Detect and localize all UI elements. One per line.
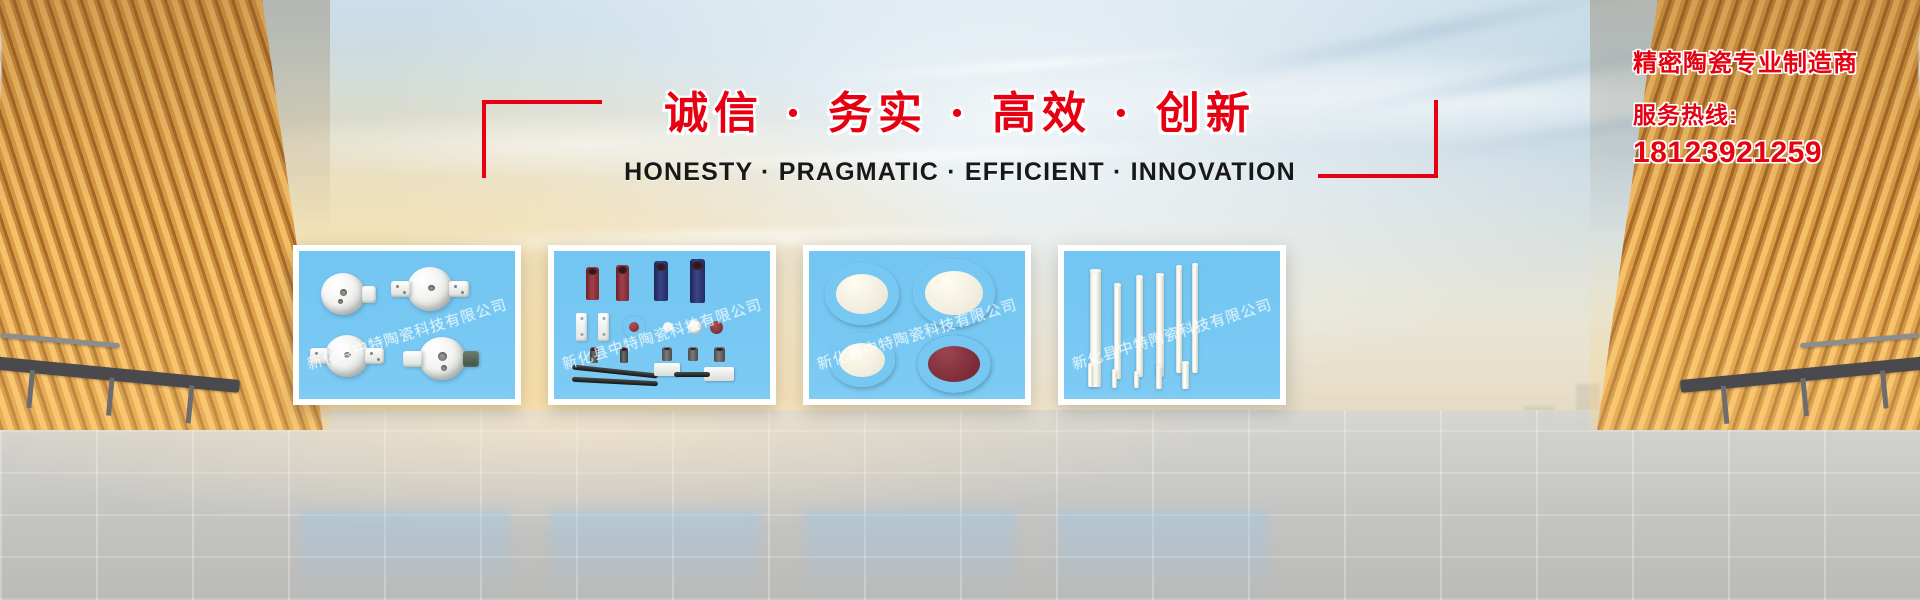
ceramic-disc-white bbox=[688, 320, 702, 334]
ceramic-cone bbox=[662, 347, 672, 361]
ceramic-rod-short bbox=[1182, 361, 1189, 389]
ceramic-rod bbox=[1114, 283, 1121, 379]
cloud-streak-1 bbox=[820, 45, 1240, 84]
lamp-holder-part bbox=[407, 267, 453, 311]
panel-reflection bbox=[1058, 510, 1268, 600]
ceramic-cone bbox=[714, 347, 725, 362]
panel-image: 新化县中特陶瓷科技有限公司 bbox=[554, 251, 770, 399]
ceramic-ring-white bbox=[656, 315, 680, 339]
ceramic-rod bbox=[1192, 263, 1198, 373]
ceramic-rod bbox=[1136, 275, 1143, 377]
panel-reflection bbox=[300, 510, 510, 600]
ceramic-cone bbox=[688, 347, 698, 361]
company-tagline: 精密陶瓷专业制造商 bbox=[1633, 50, 1858, 79]
holder-tab bbox=[403, 351, 423, 367]
ceramic-ring-large bbox=[913, 259, 995, 327]
product-panel-ceramic-rings[interactable]: 新化县中特陶瓷科技有限公司 bbox=[803, 245, 1031, 405]
ceramic-tube-red bbox=[586, 267, 599, 300]
hotline-number[interactable]: 18123921259 bbox=[1633, 136, 1858, 170]
wire-assembly bbox=[572, 365, 658, 379]
ceramic-cone bbox=[620, 347, 628, 363]
product-panel-strip: 新化县中特陶瓷科技有限公司 bbox=[293, 245, 1286, 405]
ceramic-ring-maroon bbox=[917, 335, 991, 393]
ceramic-rod-short bbox=[1112, 369, 1117, 388]
lamp-holder-part bbox=[419, 337, 465, 380]
ceramic-plate bbox=[598, 313, 609, 341]
ceramic-ring-red bbox=[622, 315, 646, 339]
lamp-holder-part bbox=[325, 335, 369, 377]
holder-tab bbox=[365, 348, 384, 364]
holder-tab bbox=[310, 348, 329, 364]
product-panel-ceramic-lamp-holders[interactable]: 新化县中特陶瓷科技有限公司 bbox=[293, 245, 521, 405]
holder-tab bbox=[463, 351, 479, 367]
holder-tab bbox=[449, 281, 469, 297]
ceramic-tube-blue bbox=[690, 259, 705, 303]
ceramic-rod-short bbox=[1088, 363, 1093, 387]
ceramic-rod-short bbox=[1156, 365, 1162, 389]
wire-assembly bbox=[674, 372, 710, 377]
holder-tab bbox=[362, 286, 376, 303]
product-panel-ceramic-tubes[interactable]: 新化县中特陶瓷科技有限公司 bbox=[548, 245, 776, 405]
panel-image: 新化县中特陶瓷科技有限公司 bbox=[299, 251, 515, 399]
cloud-streak-2 bbox=[640, 140, 1200, 172]
panel-reflection bbox=[805, 510, 1015, 600]
contact-block: 精密陶瓷专业制造商 服务热线: 18123921259 bbox=[1633, 50, 1858, 170]
lamp-holder-part bbox=[321, 273, 365, 315]
ceramic-ring-large bbox=[829, 333, 895, 387]
panel-image: 新化县中特陶瓷科技有限公司 bbox=[1064, 251, 1280, 399]
holder-tab bbox=[391, 281, 411, 297]
product-panel-ceramic-rods[interactable]: 新化县中特陶瓷科技有限公司 bbox=[1058, 245, 1286, 405]
ceramic-plate bbox=[576, 313, 587, 341]
ceramic-disc-red bbox=[710, 321, 723, 334]
ceramic-rod bbox=[1176, 265, 1182, 373]
wire-assembly bbox=[572, 377, 658, 386]
ceramic-cone bbox=[590, 347, 598, 363]
ceramic-ring-large bbox=[825, 263, 899, 325]
ceramic-rod bbox=[1156, 273, 1164, 377]
hotline-label: 服务热线: bbox=[1633, 96, 1858, 130]
ceramic-rod-short bbox=[1134, 371, 1139, 388]
promo-banner: 诚信 · 务实 · 高效 · 创新 HONESTY · PRAGMATIC · … bbox=[0, 0, 1920, 600]
panel-image: 新化县中特陶瓷科技有限公司 bbox=[809, 251, 1025, 399]
panel-reflection bbox=[550, 510, 760, 600]
ceramic-tube-red bbox=[616, 265, 629, 301]
ceramic-tube-blue bbox=[654, 261, 668, 301]
